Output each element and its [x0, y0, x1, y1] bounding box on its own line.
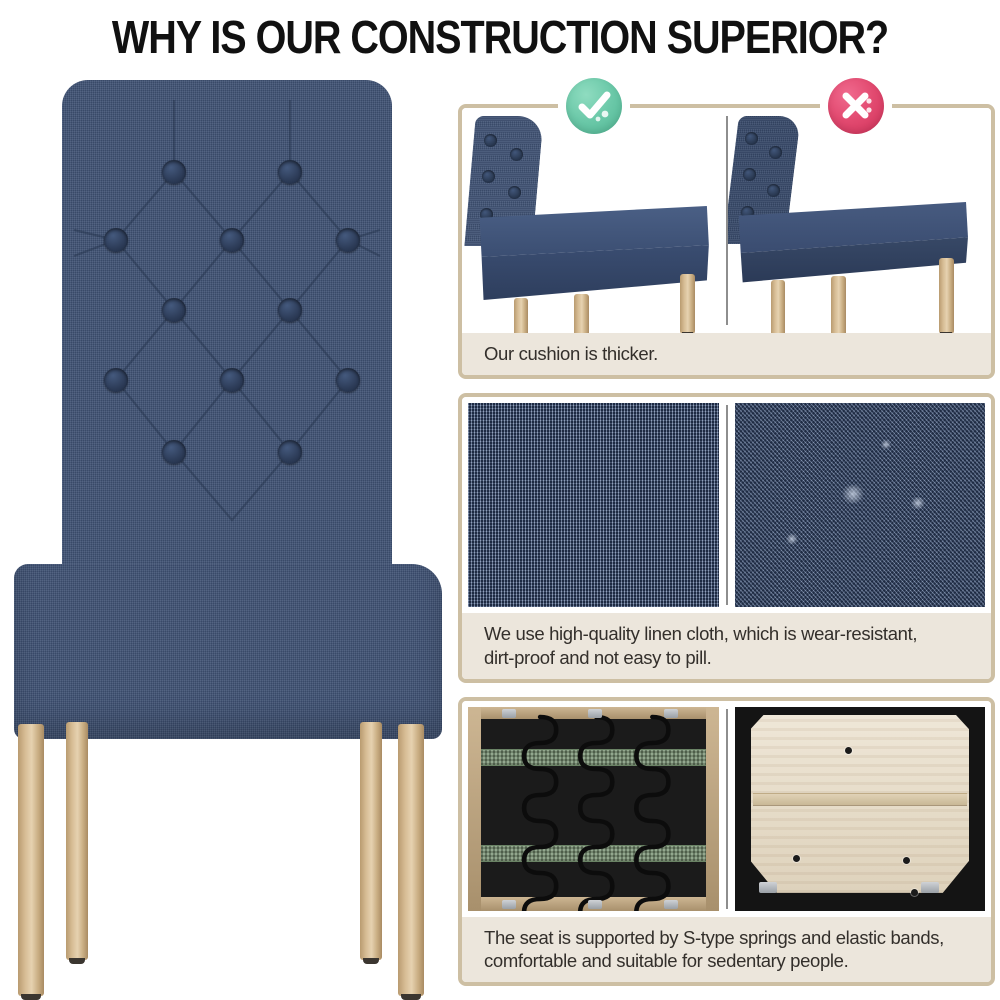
chair-backrest — [62, 80, 392, 640]
pilled-fabric-swatch-photo — [727, 403, 986, 607]
tufting-button — [278, 298, 302, 322]
panel-linen-fabric: We use high-quality linen cloth, which i… — [458, 393, 995, 683]
pilled-fabric-texture — [735, 403, 986, 607]
fabric-pill — [840, 485, 866, 503]
spring-clip — [502, 900, 516, 909]
linen-weave-swatch-photo — [468, 403, 727, 607]
plywood-frame — [735, 707, 986, 911]
tufting-button — [162, 160, 186, 184]
caption-line: comfortable and suitable for sedentary p… — [484, 949, 991, 972]
spring-frame — [468, 707, 719, 911]
tufting-button — [336, 228, 360, 252]
thick-cushion-chair-photo — [462, 108, 727, 333]
tufting-seams — [62, 80, 392, 640]
tufting-button — [104, 228, 128, 252]
caption-line: We use high-quality linen cloth, which i… — [484, 622, 991, 645]
comparison-panel-list: Our cushion is thicker. We use high-qual… — [458, 104, 995, 984]
fabric-pill — [910, 497, 926, 509]
tufting-button — [278, 160, 302, 184]
panel-media-row — [462, 397, 991, 613]
screw-hole — [793, 855, 800, 862]
chair-leg-rear-left — [66, 722, 88, 960]
fabric-pill — [880, 440, 892, 449]
metal-bracket — [759, 882, 777, 893]
chair-leg-rear-right — [360, 722, 382, 960]
s-springs-elastic-bands-photo — [468, 707, 727, 911]
chair-leg — [680, 274, 695, 333]
screw-hole — [845, 747, 852, 754]
tufting-button — [162, 440, 186, 464]
caption-line: The seat is supported by S-type springs … — [484, 926, 991, 949]
panel-media-row — [462, 701, 991, 917]
spring-clip — [502, 709, 516, 718]
spring-clip — [664, 709, 678, 718]
spring-clip — [664, 900, 678, 909]
chair-leg — [939, 258, 954, 333]
chair-leg-front-left — [18, 724, 44, 996]
caption-line: Our cushion is thicker. — [484, 342, 991, 365]
screw-hole — [903, 857, 910, 864]
linen-weave-texture — [468, 403, 719, 607]
fabric-pill — [785, 534, 799, 544]
tufting-button — [220, 228, 244, 252]
panel-divider — [726, 709, 728, 909]
panel-divider — [726, 405, 728, 605]
chair-leg — [771, 280, 785, 333]
panel-caption: Our cushion is thicker. — [462, 333, 991, 375]
chair-leg-front-right — [398, 724, 424, 996]
tufting-button — [278, 440, 302, 464]
panel-caption: We use high-quality linen cloth, which i… — [462, 613, 991, 679]
chair-leg — [831, 276, 846, 333]
x-circle-icon — [828, 78, 884, 134]
hero-product-image — [0, 72, 450, 1000]
page-title: WHY IS OUR CONSTRUCTION SUPERIOR? — [70, 10, 930, 64]
tufting-button — [336, 368, 360, 392]
chair-leg — [514, 298, 528, 333]
panel-caption: The seat is supported by S-type springs … — [462, 917, 991, 983]
panel-cushion-thickness: Our cushion is thicker. — [458, 104, 995, 379]
screw-hole — [911, 889, 918, 896]
s-type-springs — [468, 707, 719, 911]
chair-leg — [574, 294, 589, 333]
spring-clip — [588, 709, 602, 718]
tufting-button — [162, 298, 186, 322]
metal-bracket — [921, 882, 939, 893]
thin-cushion-chair-photo — [727, 108, 992, 333]
panel-divider — [726, 116, 728, 325]
tufting-button — [104, 368, 128, 392]
tufting-button — [220, 368, 244, 392]
plywood-board-seat-photo — [727, 707, 986, 911]
chair-seat-cushion — [14, 564, 442, 739]
center-brace — [753, 793, 968, 806]
panel-seat-support: The seat is supported by S-type springs … — [458, 697, 995, 987]
spring-clip — [588, 900, 602, 909]
caption-line: dirt-proof and not easy to pill. — [484, 646, 991, 669]
panel-media-row — [462, 108, 991, 333]
check-circle-icon — [566, 78, 622, 134]
